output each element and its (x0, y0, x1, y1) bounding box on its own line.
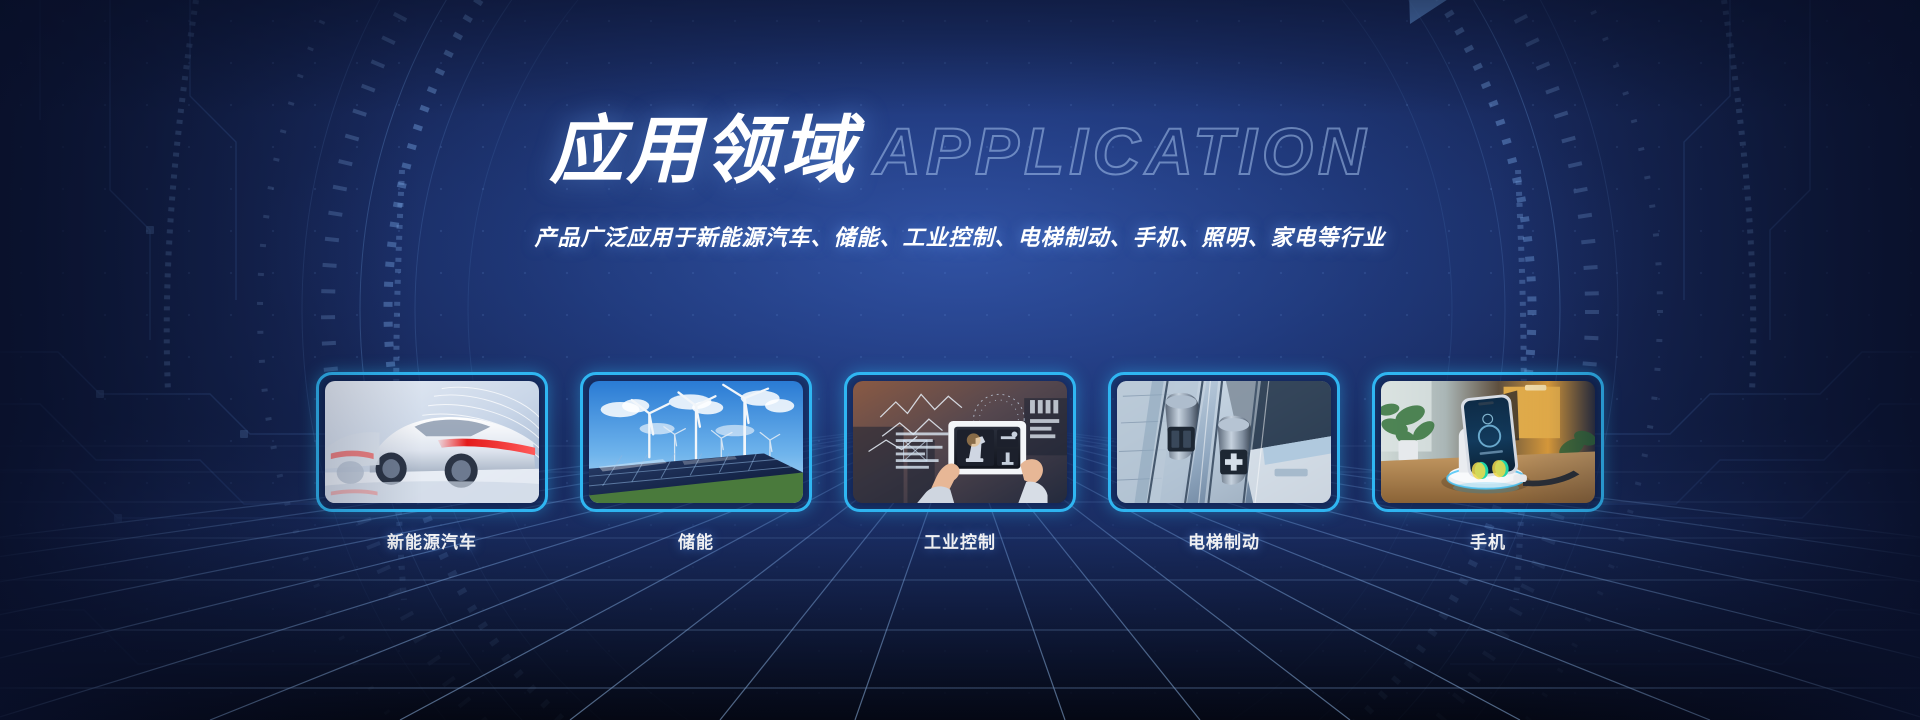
application-card[interactable]: 电梯制动 (1108, 372, 1340, 553)
application-card[interactable]: 新能源汽车 (316, 372, 548, 553)
application-card[interactable]: 工业控制 (844, 372, 1076, 553)
card-label: 工业控制 (844, 528, 1076, 553)
card-frame[interactable] (580, 372, 812, 512)
title-row: 应用领域 APPLICATION (0, 108, 1920, 194)
energy-storage-icon (589, 381, 803, 503)
banner-headline: 应用领域 APPLICATION 产品广泛应用于新能源汽车、储能、工业控制、电梯… (0, 108, 1920, 252)
application-banner: 应用领域 APPLICATION 产品广泛应用于新能源汽车、储能、工业控制、电梯… (0, 0, 1920, 720)
ev-car-icon (325, 381, 539, 503)
card-frame[interactable] (1108, 372, 1340, 512)
elevator-brake-icon (1117, 381, 1331, 503)
application-card[interactable]: 手机 (1372, 372, 1604, 553)
card-thumbnail-energy-storage (589, 381, 803, 503)
application-card[interactable]: 储能 (580, 372, 812, 553)
card-label: 电梯制动 (1108, 528, 1340, 553)
card-thumbnail-phone (1381, 381, 1595, 503)
card-label: 储能 (580, 528, 812, 553)
card-frame[interactable] (844, 372, 1076, 512)
card-thumbnail-elevator (1117, 381, 1331, 503)
card-thumbnail-industrial-control (853, 381, 1067, 503)
mobile-phone-icon (1381, 381, 1595, 503)
card-label: 手机 (1372, 528, 1604, 553)
card-thumbnail-ev-car (325, 381, 539, 503)
page-title-english: APPLICATION (873, 118, 1370, 184)
banner-subtitle: 产品广泛应用于新能源汽车、储能、工业控制、电梯制动、手机、照明、家电等行业 (0, 220, 1920, 252)
card-frame[interactable] (316, 372, 548, 512)
page-title: 应用领域 (549, 114, 857, 188)
industrial-control-icon (853, 381, 1067, 503)
application-card-list: 新能源汽车 (0, 372, 1920, 553)
card-label: 新能源汽车 (316, 528, 548, 553)
card-frame[interactable] (1372, 372, 1604, 512)
